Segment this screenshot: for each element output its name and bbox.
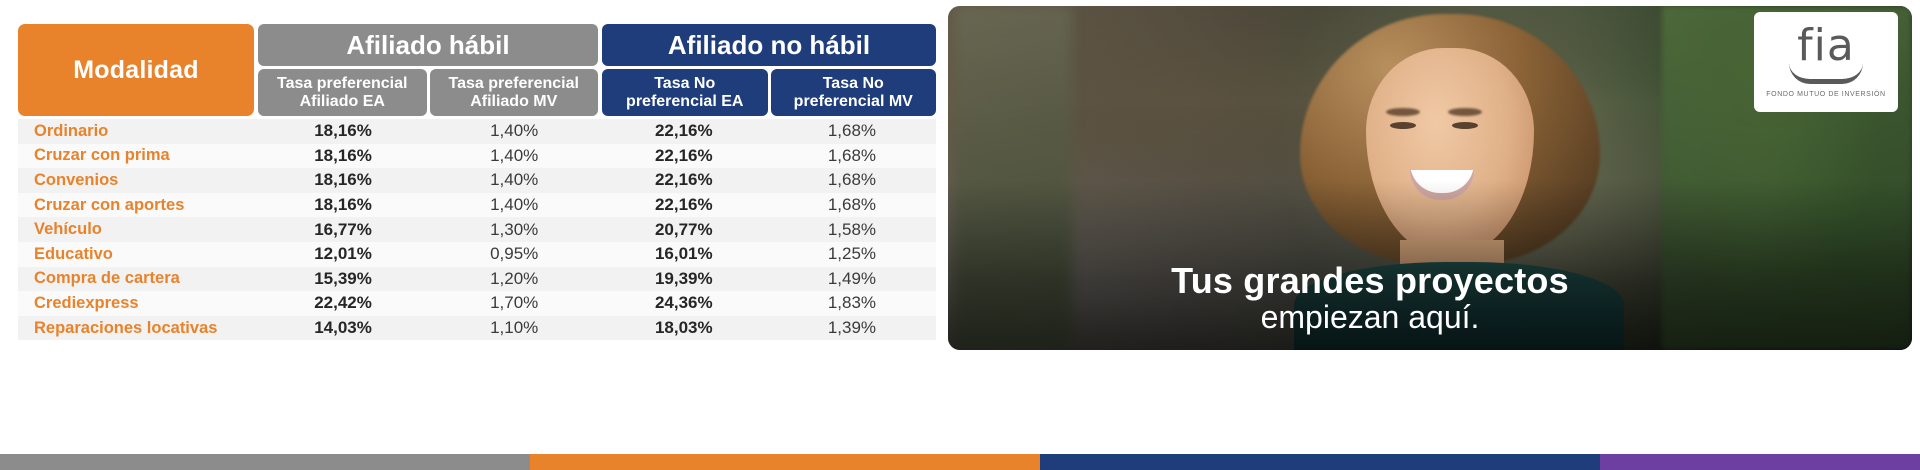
cell-nopref-ea: 22,16% [600,121,768,141]
cell-pref-ea: 15,39% [258,269,429,289]
table-row: Cruzar con prima18,16%1,40%22,16%1,68% [18,144,936,169]
cell-nopref-mv: 1,83% [768,293,936,313]
table-row: Convenios18,16%1,40%22,16%1,68% [18,168,936,193]
subheader-line2: preferencial MV [794,93,913,110]
group-header-afiliado-no-habil: Afiliado no hábil [602,24,936,66]
cell-modalidad: Reparaciones locativas [18,319,258,338]
cell-nopref-ea: 18,03% [600,318,768,338]
cell-nopref-mv: 1,49% [768,269,936,289]
cell-pref-ea: 18,16% [258,121,429,141]
cell-nopref-ea: 22,16% [600,146,768,166]
cell-pref-mv: 1,40% [429,146,600,166]
subheader-line1: Tasa preferencial [449,75,579,92]
cell-pref-ea: 18,16% [258,146,429,166]
subheader-line2: Afiliado MV [470,93,557,110]
table-row: Cruzar con aportes18,16%1,40%22,16%1,68% [18,193,936,218]
group-afiliado-no-habil: Afiliado no hábil Tasa No preferencial E… [602,24,936,116]
bottom-color-bar [0,454,1920,470]
cell-nopref-ea: 22,16% [600,170,768,190]
subheader-tasa-no-preferencial-mv: Tasa No preferencial MV [771,69,937,116]
fia-logo: fia FONDO MUTUO DE INVERSIÓN [1754,12,1898,112]
cell-nopref-mv: 1,58% [768,220,936,240]
table-body: Ordinario18,16%1,40%22,16%1,68%Cruzar co… [18,119,936,340]
cell-pref-mv: 1,30% [429,220,600,240]
hero-image: Tus grandes proyectos empiezan aquí. fia… [948,6,1912,350]
cell-nopref-ea: 22,16% [600,195,768,215]
subheader-line1: Tasa No [654,75,715,92]
cell-pref-ea: 18,16% [258,195,429,215]
cell-nopref-mv: 1,68% [768,121,936,141]
subheader-line2: preferencial EA [626,93,743,110]
subheader-line2: Afiliado EA [300,93,385,110]
cell-nopref-mv: 1,68% [768,195,936,215]
cell-pref-mv: 1,40% [429,170,600,190]
table-row: Ordinario18,16%1,40%22,16%1,68% [18,119,936,144]
cell-pref-ea: 22,42% [258,293,429,313]
cell-modalidad: Ordinario [18,122,258,141]
cell-modalidad: Vehículo [18,220,258,239]
cell-nopref-mv: 1,68% [768,170,936,190]
cell-nopref-mv: 1,25% [768,244,936,264]
cell-pref-mv: 1,20% [429,269,600,289]
cell-nopref-ea: 19,39% [600,269,768,289]
cell-pref-mv: 1,10% [429,318,600,338]
subheader-tasa-preferencial-ea: Tasa preferencial Afiliado EA [258,69,427,116]
logo-smile-icon [1789,63,1863,84]
cell-pref-mv: 0,95% [429,244,600,264]
logo-subtitle: FONDO MUTUO DE INVERSIÓN [1766,91,1885,98]
subheader-line1: Tasa No [823,75,884,92]
orange-segment [530,454,1040,470]
table-row: Reparaciones locativas14,03%1,10%18,03%1… [18,316,936,341]
cell-modalidad: Cruzar con aportes [18,196,258,215]
navy-segment [1040,454,1600,470]
cell-nopref-mv: 1,39% [768,318,936,338]
rates-banner: Modalidad Afiliado hábil Tasa preferenci… [0,0,1920,470]
gray-segment [0,454,530,470]
cell-pref-mv: 1,40% [429,121,600,141]
tagline-line1: Tus grandes proyectos [948,261,1792,301]
cell-modalidad: Educativo [18,245,258,264]
cell-modalidad: Convenios [18,171,258,190]
logo-wordmark: fia [1797,26,1855,66]
table-row: Vehículo16,77%1,30%20,77%1,58% [18,217,936,242]
cell-pref-mv: 1,40% [429,195,600,215]
table-row: Educativo12,01%0,95%16,01%1,25% [18,242,936,267]
subheader-tasa-no-preferencial-ea: Tasa No preferencial EA [602,69,768,116]
cell-pref-mv: 1,70% [429,293,600,313]
tagline-line2: empiezan aquí. [948,300,1792,336]
table-row: Compra de cartera15,39%1,20%19,39%1,49% [18,267,936,292]
cell-nopref-ea: 16,01% [600,244,768,264]
cell-pref-ea: 16,77% [258,220,429,240]
group-afiliado-habil: Afiliado hábil Tasa preferencial Afiliad… [258,24,598,116]
cell-nopref-mv: 1,68% [768,146,936,166]
group-header-afiliado-habil: Afiliado hábil [258,24,598,66]
cell-modalidad: Compra de cartera [18,269,258,288]
header-modalidad: Modalidad [18,24,254,116]
rates-table: Modalidad Afiliado hábil Tasa preferenci… [18,24,936,344]
subheader-line1: Tasa preferencial [277,75,407,92]
cell-modalidad: Cruzar con prima [18,146,258,165]
table-header: Modalidad Afiliado hábil Tasa preferenci… [18,24,936,116]
portrait-eyebrow-left [1386,108,1420,116]
cell-nopref-ea: 24,36% [600,293,768,313]
subheader-tasa-preferencial-mv: Tasa preferencial Afiliado MV [430,69,599,116]
cell-nopref-ea: 20,77% [600,220,768,240]
hero-tagline: Tus grandes proyectos empiezan aquí. [948,261,1912,336]
cell-pref-ea: 14,03% [258,318,429,338]
purple-segment [1600,454,1920,470]
table-row: Crediexpress22,42%1,70%24,36%1,83% [18,291,936,316]
portrait-eye-left [1390,122,1416,129]
portrait-eyebrow-right [1448,108,1482,116]
cell-modalidad: Crediexpress [18,294,258,313]
cell-pref-ea: 12,01% [258,244,429,264]
cell-pref-ea: 18,16% [258,170,429,190]
portrait-eye-right [1452,122,1478,129]
